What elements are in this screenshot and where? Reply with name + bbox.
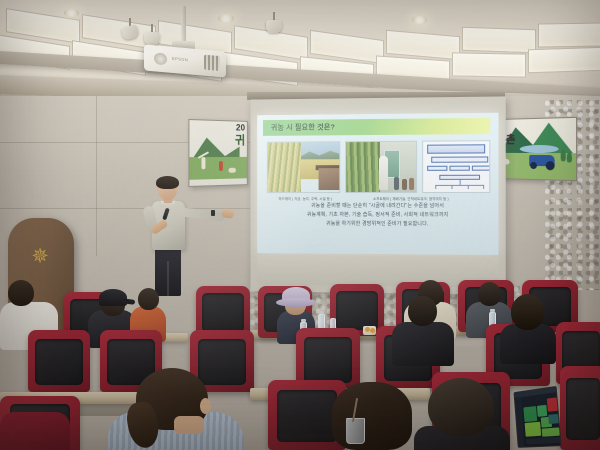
- light-panel: [462, 27, 536, 54]
- attendee-head: [511, 294, 544, 330]
- attendee-short-hair-front: [414, 378, 510, 450]
- banner-figure: [201, 157, 205, 169]
- projector-mount-pole: [181, 6, 186, 44]
- attendee-head: [478, 282, 501, 306]
- slide-body-line-3: 귀농을 하기위한 경방위적인 준비가 필요합니다.: [271, 219, 486, 229]
- slide-diagram: [422, 140, 490, 193]
- laptop-screen: [513, 386, 561, 448]
- banner-figure: [219, 161, 223, 171]
- presenter-pointing-hand: [221, 208, 234, 219]
- seat[interactable]: [28, 330, 90, 392]
- attendee-head: [8, 280, 34, 306]
- attendee-body: [392, 322, 454, 366]
- podium-emblem-icon: ✵: [25, 244, 55, 270]
- wall-seam: [96, 96, 97, 256]
- attendee-body: [0, 412, 70, 450]
- banner-right: 농촌: [495, 117, 577, 181]
- attendee-head: [138, 288, 159, 310]
- slide-caption-left: 하드웨어 ( 자금, 농지, 주택, 시설 등 ): [279, 196, 333, 201]
- projector-brand-label: EPSON: [172, 56, 188, 62]
- slide-caption-right: 소프트웨어 ( 재배기술, 인적네트워크, 정착의지 등 ): [373, 196, 449, 201]
- snack-item: [370, 328, 375, 333]
- laptop-sidebar: [515, 397, 525, 447]
- mural-tree: [561, 149, 566, 161]
- attendee-head: [408, 296, 437, 326]
- attendee-ponytail: [108, 368, 244, 450]
- slide-body-line-1: 귀농을 준비할 때는 단순히 "시골에 내려간다"는 수준을 넘어서: [271, 202, 486, 211]
- attendee-head: [332, 382, 412, 450]
- drink-cup: [346, 418, 365, 444]
- downlight: [64, 9, 79, 17]
- slide-photo-farmland: [267, 141, 340, 193]
- banner-left: 20 귀: [188, 119, 247, 187]
- laptop-tile-green: [525, 422, 542, 437]
- laptop[interactable]: [513, 386, 561, 448]
- laptop-tile-red: [547, 397, 558, 411]
- bottle-cap: [301, 319, 306, 322]
- presenter-right-arm: [178, 207, 225, 222]
- downlight: [218, 14, 234, 23]
- laptop-tile-teal: [548, 414, 559, 424]
- hat-brim: [276, 298, 316, 307]
- presenter: [139, 178, 235, 296]
- presenter-watch: [211, 210, 215, 216]
- attendee-ear: [200, 398, 211, 414]
- slide-photo-greenhouse: [345, 141, 417, 193]
- slide-title: 귀농 시 필요한 것은?: [271, 122, 335, 132]
- projector-vent: [204, 55, 220, 71]
- attendee-dark-jacket: [392, 296, 454, 362]
- seat[interactable]: [560, 366, 600, 450]
- presenter-hair: [156, 176, 179, 189]
- attendee-longhair: [500, 294, 556, 360]
- attendee-darkhair-right: [326, 382, 418, 450]
- light-panel: [452, 52, 526, 77]
- banner-left-line2: 귀: [235, 134, 245, 146]
- projection-screen: 귀농 시 필요한 것은?: [250, 96, 505, 294]
- projector-lens: [154, 52, 167, 65]
- banner-dog: [228, 168, 235, 173]
- slide-title-bar: 귀농 시 필요한 것은?: [263, 118, 490, 136]
- slide-body-text: 귀농을 준비할 때는 단순히 "시골에 내려간다"는 수준을 넘어서 귀농계획,…: [271, 202, 486, 229]
- snack-tray: [363, 326, 376, 335]
- attendee-head: [428, 378, 494, 436]
- slide-image-row: [267, 140, 490, 193]
- light-panel: [528, 47, 600, 74]
- ceiling: [0, 0, 600, 104]
- attendee-neck: [174, 416, 204, 434]
- laptop-tile-green: [537, 405, 547, 417]
- attendee-body: [500, 324, 556, 364]
- bottle-cap: [490, 309, 495, 312]
- mural-tree: [567, 152, 572, 162]
- attendee-left-edge-front: [0, 394, 70, 450]
- mural-tractor-wheel: [546, 161, 555, 170]
- downlight: [412, 16, 427, 24]
- light-panel: [538, 22, 600, 47]
- laptop-tile-dim: [526, 437, 561, 445]
- presentation-slide: 귀농 시 필요한 것은?: [257, 113, 498, 255]
- mural-tractor-wheel: [530, 162, 537, 169]
- banner-left-line1: 20: [236, 124, 245, 133]
- laptop-tile-green: [523, 406, 537, 422]
- lecture-hall-photo: EPSON 20 귀 농촌: [0, 0, 600, 450]
- laptop-tile-green: [542, 427, 560, 436]
- bottle-cap: [319, 311, 324, 314]
- mural-lake: [520, 145, 559, 153]
